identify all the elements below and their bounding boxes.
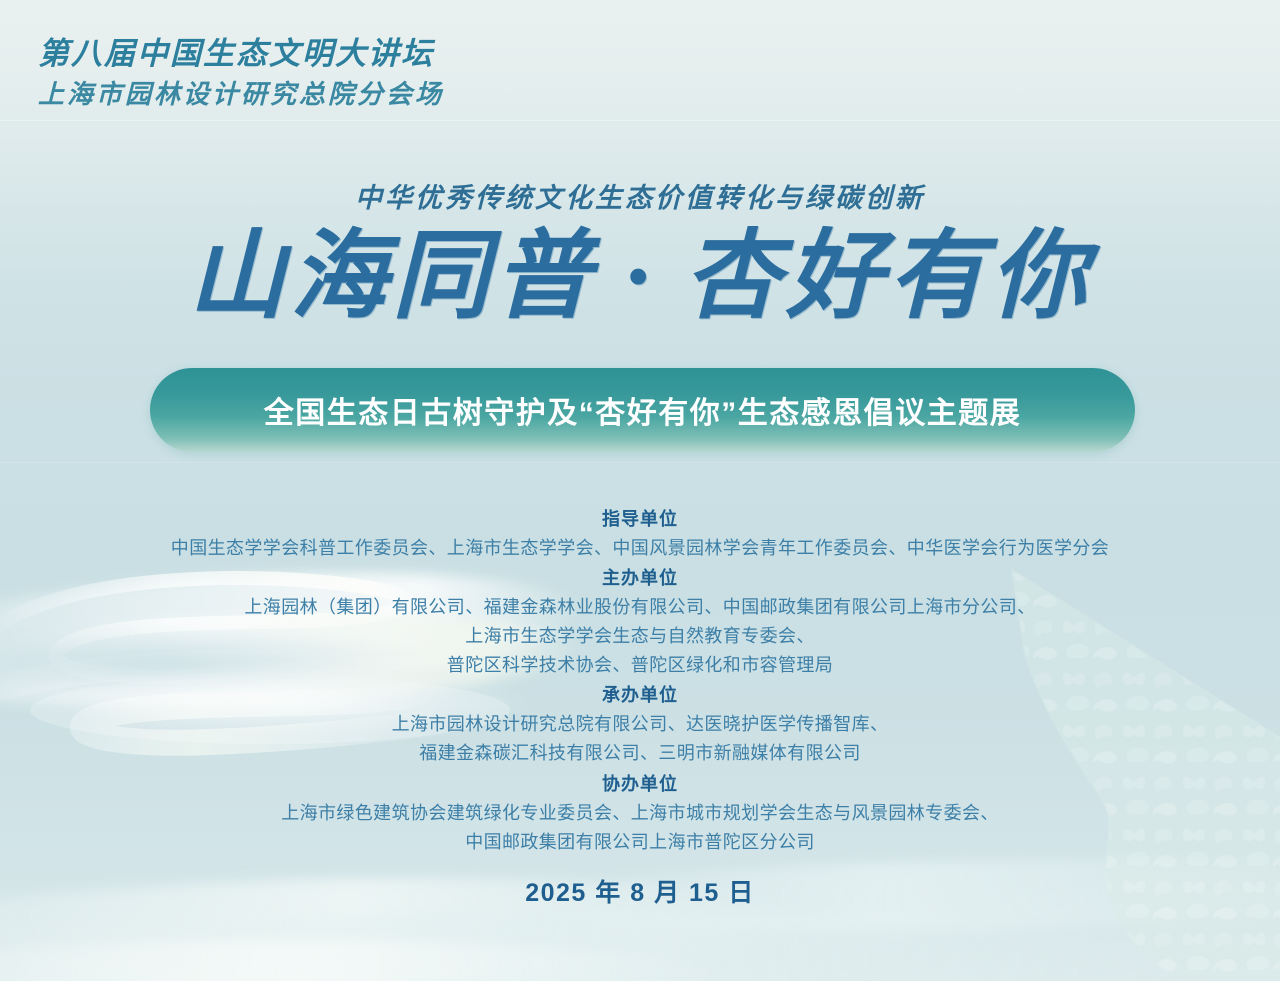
- org-group-coorganizer: 协办单位 上海市绿色建筑协会建筑绿化专业委员会、上海市城市规划学会生态与风景园林…: [0, 771, 1280, 857]
- org-line: 上海园林（集团）有限公司、福建金森林业股份有限公司、中国邮政集团有限公司上海市分…: [0, 593, 1280, 622]
- forum-title-line1: 第八届中国生态文明大讲坛: [38, 34, 444, 74]
- org-group-guidance: 指导单位 中国生态学学会科普工作委员会、上海市生态学学会、中国风景园林学会青年工…: [0, 506, 1280, 563]
- org-heading: 主办单位: [0, 565, 1280, 593]
- exhibition-banner-label: 全国生态日古树守护及“杏好有你”生态感恩倡议主题展: [264, 388, 1022, 432]
- org-line: 中国邮政集团有限公司上海市普陀区分公司: [0, 828, 1280, 857]
- poster-canvas: 第八届中国生态文明大讲坛 上海市园林设计研究总院分会场 中华优秀传统文化生态价值…: [0, 0, 1280, 981]
- forum-title-line2: 上海市园林设计研究总院分会场: [38, 78, 444, 111]
- org-line: 上海市绿色建筑协会建筑绿化专业委员会、上海市城市规划学会生态与风景园林专委会、: [0, 799, 1280, 828]
- org-heading: 指导单位: [0, 506, 1280, 534]
- org-heading: 承办单位: [0, 682, 1280, 710]
- theme-subtitle: 中华优秀传统文化生态价值转化与绿碳创新: [0, 176, 1280, 215]
- event-date: 2025 年 8 月 15 日: [0, 873, 1280, 909]
- org-heading: 协办单位: [0, 771, 1280, 799]
- exhibition-banner: 全国生态日古树守护及“杏好有你”生态感恩倡议主题展: [150, 368, 1135, 452]
- organization-list: 指导单位 中国生态学学会科普工作委员会、上海市生态学学会、中国风景园林学会青年工…: [0, 506, 1280, 909]
- forum-header: 第八届中国生态文明大讲坛 上海市园林设计研究总院分会场: [38, 34, 444, 111]
- org-line: 福建金森碳汇科技有限公司、三明市新融媒体有限公司: [0, 739, 1280, 768]
- main-title: 山海同普 · 杏好有你: [0, 226, 1280, 328]
- org-line: 上海市生态学学会生态与自然教育专委会、: [0, 622, 1280, 651]
- org-line: 普陀区科学技术协会、普陀区绿化和市容管理局: [0, 651, 1280, 680]
- org-line: 中国生态学学会科普工作委员会、上海市生态学学会、中国风景园林学会青年工作委员会、…: [0, 534, 1280, 563]
- org-group-organizer: 承办单位 上海市园林设计研究总院有限公司、达医晓护医学传播智库、 福建金森碳汇科…: [0, 682, 1280, 768]
- org-line: 上海市园林设计研究总院有限公司、达医晓护医学传播智库、: [0, 710, 1280, 739]
- org-group-host: 主办单位 上海园林（集团）有限公司、福建金森林业股份有限公司、中国邮政集团有限公…: [0, 565, 1280, 680]
